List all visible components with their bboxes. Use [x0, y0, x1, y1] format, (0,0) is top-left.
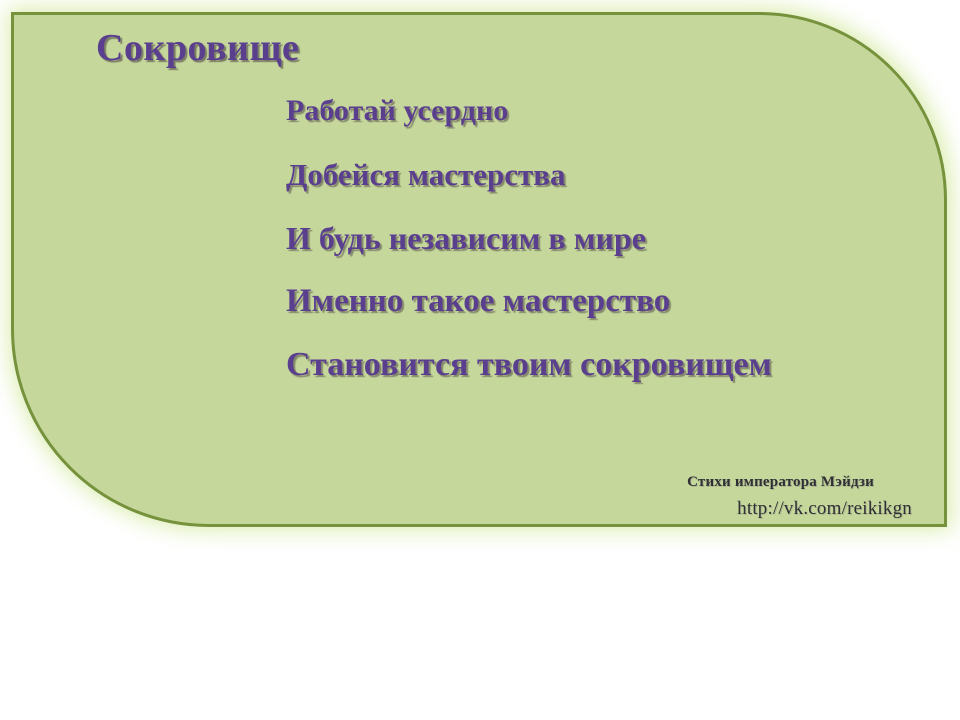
poem-block: Работай усердно Добейся мастерства И буд… [286, 96, 946, 382]
slide-canvas: Сокровище Работай усердно Добейся мастер… [0, 0, 960, 720]
credit-url[interactable]: http://vk.com/reikikgn [414, 498, 912, 520]
poem-line: Добейся мастерства [286, 159, 946, 190]
credit-author: Стихи императора Мэйдзи [414, 474, 874, 491]
page-title: Сокровище [96, 26, 299, 70]
panel-content: Сокровище Работай усердно Добейся мастер… [8, 8, 952, 530]
credit-block: Стихи императора Мэйдзи http://vk.com/re… [414, 474, 874, 520]
green-panel-container: Сокровище Работай усердно Добейся мастер… [8, 8, 952, 530]
poem-line: Становится твоим сокровищем [286, 348, 946, 382]
poem-line: Работай усердно [286, 96, 946, 126]
poem-line: Именно такое мастерство [286, 285, 946, 318]
poem-line: И будь независим в мире [286, 222, 946, 254]
